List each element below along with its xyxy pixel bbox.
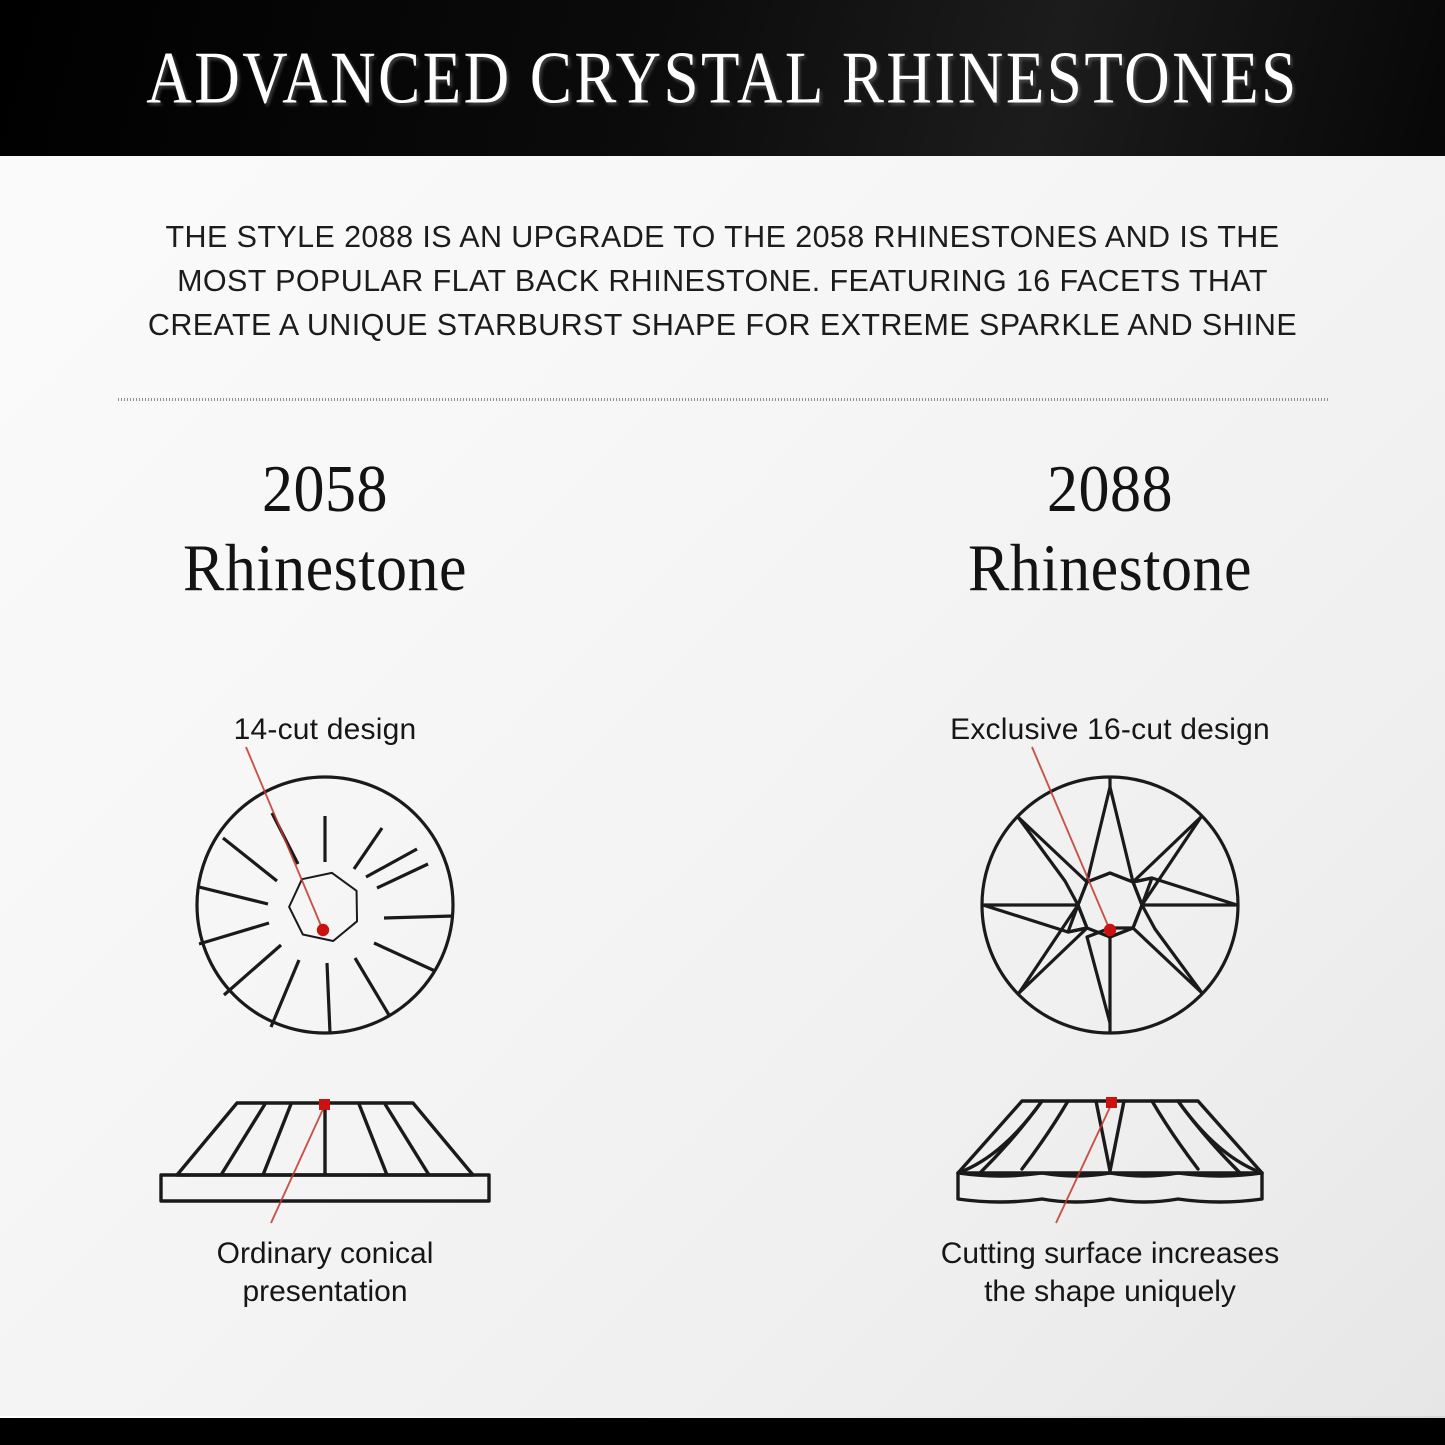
dotted-divider bbox=[118, 398, 1328, 401]
caption-2058-line-1: Ordinary conical bbox=[25, 1235, 625, 1273]
conical-profile-icon bbox=[161, 1103, 489, 1201]
pointer-dot-icon bbox=[1106, 1097, 1117, 1108]
cut-label-2058: 14-cut design bbox=[25, 713, 625, 747]
column-number-2088: 2088 bbox=[810, 450, 1410, 529]
column-rhinestone-2088: 2088 Rhinestone Exclusive 16-cut design bbox=[810, 455, 1410, 1335]
caption-2088-line-2: the shape uniquely bbox=[810, 1273, 1410, 1311]
top-view-2058 bbox=[25, 765, 625, 1055]
star-points bbox=[983, 787, 1237, 1023]
page-title: ADVANCED CRYSTAL RHINESTONES bbox=[146, 35, 1298, 121]
column-number-2058: 2058 bbox=[25, 450, 625, 529]
starburst-outline-2088 bbox=[982, 777, 1238, 1033]
intro-line-1: THE STYLE 2088 IS AN UPGRADE TO THE 2058… bbox=[105, 215, 1340, 259]
column-word-2058: Rhinestone bbox=[25, 529, 625, 608]
pointer-2058-side bbox=[271, 1099, 330, 1223]
footer-bar bbox=[0, 1418, 1445, 1445]
pointer-dot-icon bbox=[319, 1099, 330, 1110]
girdle-circle-icon bbox=[197, 777, 453, 1033]
header-banner: ADVANCED CRYSTAL RHINESTONES bbox=[0, 0, 1445, 156]
intro-paragraph: THE STYLE 2088 IS AN UPGRADE TO THE 2058… bbox=[105, 215, 1340, 347]
caption-2088: Cutting surface increases the shape uniq… bbox=[810, 1235, 1410, 1311]
caption-2058: Ordinary conical presentation bbox=[25, 1235, 625, 1311]
intro-line-3: CREATE A UNIQUE STARBURST SHAPE FOR EXTR… bbox=[105, 303, 1340, 347]
pointer-dot-icon bbox=[1104, 924, 1116, 936]
facet-outline-2058 bbox=[197, 777, 453, 1033]
top-view-2088 bbox=[810, 765, 1410, 1055]
column-rhinestone-2058: 2058 Rhinestone 14-cut design bbox=[25, 455, 625, 1335]
column-word-2088: Rhinestone bbox=[810, 529, 1410, 608]
infographic-page: ADVANCED CRYSTAL RHINESTONES THE STYLE 2… bbox=[0, 0, 1445, 1445]
side-view-2088 bbox=[810, 1075, 1410, 1225]
column-title-2058: 2058 Rhinestone bbox=[25, 450, 625, 608]
caption-2088-line-1: Cutting surface increases bbox=[810, 1235, 1410, 1273]
caption-2058-line-2: presentation bbox=[25, 1273, 625, 1311]
side-view-2058 bbox=[25, 1075, 625, 1225]
faceted-profile-icon bbox=[958, 1101, 1262, 1202]
column-title-2088: 2088 Rhinestone bbox=[810, 450, 1410, 608]
cut-label-2088: Exclusive 16-cut design bbox=[810, 713, 1410, 747]
intro-line-2: MOST POPULAR FLAT BACK RHINESTONE. FEATU… bbox=[105, 259, 1340, 303]
pointer-dot-icon bbox=[317, 924, 329, 936]
